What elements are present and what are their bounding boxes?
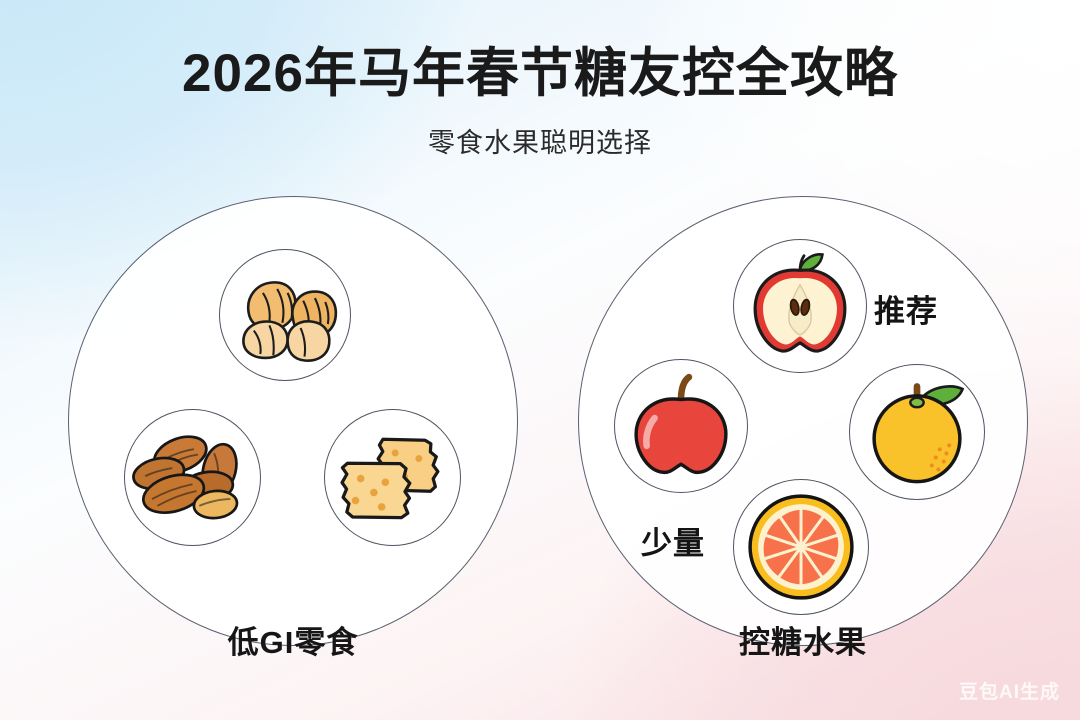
watermark: 豆包AI生成 bbox=[959, 677, 1060, 704]
orange-slice-icon bbox=[734, 480, 868, 614]
group-label-low-gi-snacks: 低GI零食 bbox=[228, 617, 359, 662]
cracker-icon bbox=[325, 410, 460, 545]
page-title: 2026年马年春节糖友控全攻略 bbox=[0, 44, 1080, 105]
walnut-icon bbox=[220, 250, 350, 380]
group-label-sugar-control-fruits: 控糖水果 bbox=[739, 617, 867, 662]
plate-walnuts bbox=[219, 249, 351, 381]
annotation-small-amount: 少量 bbox=[641, 518, 705, 563]
almond-icon bbox=[125, 410, 260, 545]
plate-crackers bbox=[324, 409, 461, 546]
apple-icon bbox=[615, 360, 747, 492]
apple-half-icon bbox=[734, 240, 866, 372]
plate-orange-slice bbox=[733, 479, 869, 615]
header: 2026年马年春节糖友控全攻略 零食水果聪明选择 bbox=[0, 0, 1080, 160]
plate-apple-half bbox=[733, 239, 867, 373]
plate-red-apple bbox=[614, 359, 748, 493]
orange-icon bbox=[850, 365, 984, 499]
page-subtitle: 零食水果聪明选择 bbox=[0, 121, 1080, 160]
annotation-recommend: 推荐 bbox=[874, 286, 938, 331]
plate-orange bbox=[849, 364, 985, 500]
poster-canvas: 2026年马年春节糖友控全攻略 零食水果聪明选择 bbox=[0, 0, 1080, 720]
plate-almonds bbox=[124, 409, 261, 546]
